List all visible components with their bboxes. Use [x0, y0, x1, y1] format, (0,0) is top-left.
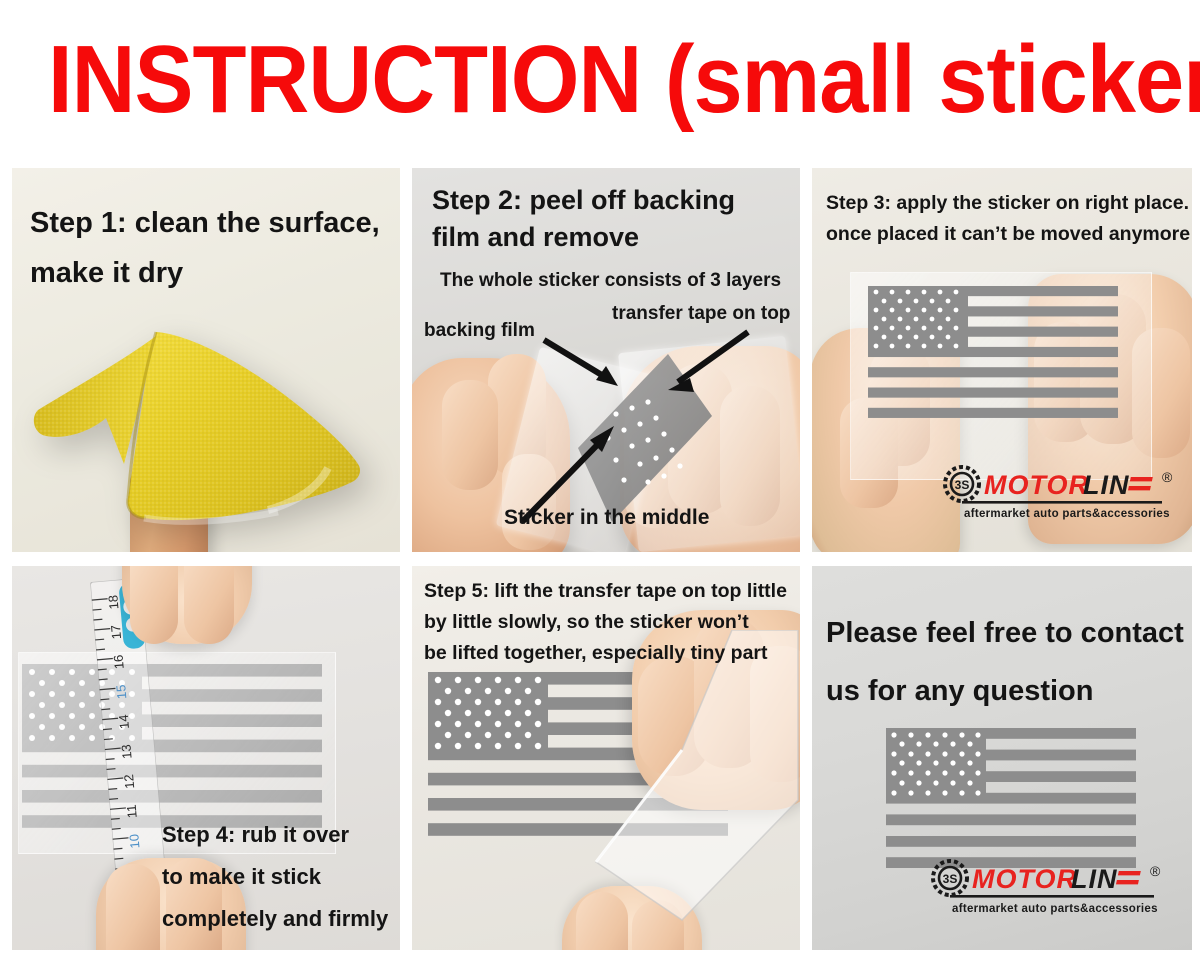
us-flag-decal — [886, 728, 1136, 868]
yellow-towel-icon — [28, 318, 364, 538]
logo-registered: ® — [1162, 469, 1173, 485]
steps-grid: Step 1: clean the surface, make it dry — [12, 168, 1190, 950]
panel-contact: Please feel free to contact us for any q… — [812, 566, 1192, 950]
contact-caption: Please feel free to contact us for any q… — [826, 604, 1184, 720]
logo-equals-mark — [1128, 477, 1153, 490]
top-hand — [122, 566, 252, 644]
svg-text:3S: 3S — [943, 872, 958, 886]
step-4-caption: Step 4: rub it over to make it stick com… — [162, 814, 388, 940]
logo-word-red: MOTOR — [972, 864, 1077, 894]
gear-3s-icon: 3S — [945, 467, 979, 501]
instruction-sheet: INSTRUCTION (small sticker) — [0, 0, 1200, 962]
motorline-logo: 3S MOTOR LIN ® aftermarket auto parts&ac… — [928, 856, 1180, 918]
logo-equals-mark — [1116, 871, 1141, 884]
step-1-caption: Step 1: clean the surface, make it dry — [30, 198, 380, 298]
motorline-logo: 3S MOTOR LIN ® aftermarket auto parts&ac… — [940, 462, 1184, 522]
step-3-caption: Step 3: apply the sticker on right place… — [826, 188, 1190, 250]
panel-step-2: Step 2: peel off backing film and remove… — [412, 168, 800, 552]
label-transfer-tape: transfer tape on top — [612, 303, 790, 325]
panel-step-1: Step 1: clean the surface, make it dry — [12, 168, 400, 552]
label-sticker-middle: Sticker in the middle — [504, 506, 709, 530]
logo-registered: ® — [1150, 863, 1161, 879]
label-backing-film: backing film — [424, 320, 535, 342]
logo-word-red: MOTOR — [984, 470, 1089, 500]
svg-text:13: 13 — [118, 744, 134, 760]
svg-text:11: 11 — [124, 804, 140, 819]
arrow-backing-film — [540, 336, 630, 394]
svg-text:18: 18 — [105, 594, 121, 610]
svg-text:17: 17 — [108, 624, 124, 640]
panel-step-3: 3S MOTOR LIN ® aftermarket auto parts&ac… — [812, 168, 1192, 552]
svg-text:3S: 3S — [955, 478, 970, 492]
panel-step-5: Step 5: lift the transfer tape on top li… — [412, 566, 800, 950]
us-flag-decal — [868, 286, 1118, 418]
step-2-subtitle: The whole sticker consists of 3 layers — [440, 270, 781, 292]
svg-text:12: 12 — [121, 774, 137, 790]
logo-word-black: LIN — [1071, 864, 1118, 894]
svg-text:16: 16 — [111, 654, 127, 670]
svg-text:14: 14 — [116, 714, 132, 730]
step-5-caption: Step 5: lift the transfer tape on top li… — [424, 576, 787, 669]
step-2-heading: Step 2: peel off backing film and remove — [432, 182, 735, 256]
logo-word-black: LIN — [1083, 470, 1130, 500]
logo-tagline: aftermarket auto parts&accessories — [964, 508, 1170, 520]
svg-text:10: 10 — [126, 833, 142, 849]
svg-text:15: 15 — [113, 684, 129, 700]
gear-3s-icon: 3S — [933, 861, 967, 895]
page-title: INSTRUCTION (small sticker) — [48, 28, 1152, 132]
arrow-transfer-tape — [648, 326, 758, 402]
flag-canton — [868, 286, 968, 357]
logo-tagline: aftermarket auto parts&accessories — [952, 903, 1158, 915]
panel-step-4: 18 17 16 15 14 13 12 11 10 9 — [12, 566, 400, 950]
